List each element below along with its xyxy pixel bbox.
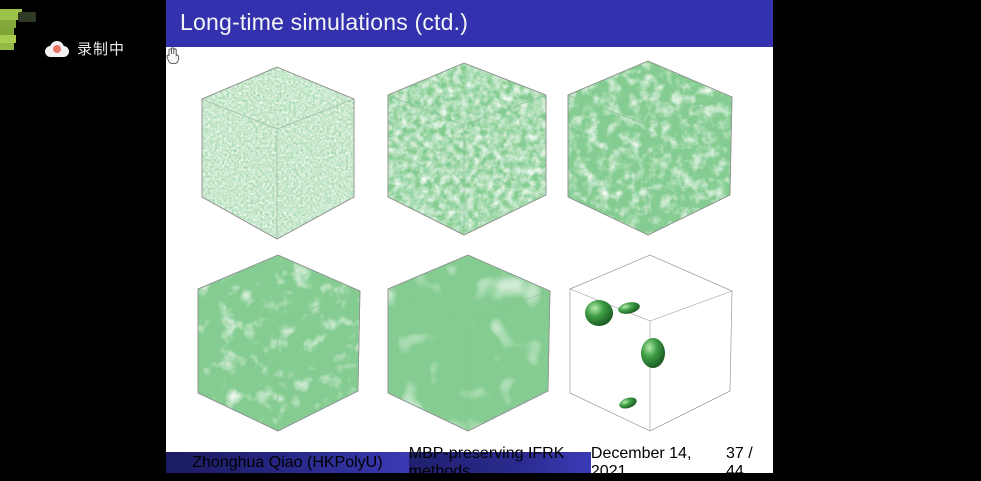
footer-topic: MBP-preserving IFRK methods: [409, 452, 591, 473]
slide-title-bar: Long-time simulations (ctd.): [166, 0, 773, 47]
footer-page-number: 37 / 44: [726, 445, 773, 481]
slide-footer: Zhonghua Qiao (HKPolyU) MBP-preserving I…: [166, 452, 773, 473]
footer-author: Zhonghua Qiao (HKPolyU): [166, 452, 409, 473]
isosurface-cube-5: [374, 245, 564, 437]
isosurface-cube-1: [182, 57, 372, 249]
figure-panel-5: [374, 245, 564, 437]
recording-indicator: 录制中: [45, 38, 125, 59]
isosurface-cube-6: [556, 245, 746, 437]
figure-panel-1: [182, 57, 372, 249]
isosurface-cube-2: [374, 55, 564, 247]
figure-panel-2: [374, 55, 564, 247]
figure-panel-6: [556, 245, 746, 437]
presentation-slide[interactable]: Long-time simulations (ctd.): [166, 0, 773, 473]
isosurface-cube-3: [556, 53, 746, 245]
participant-name: 乔中华: [0, 56, 48, 73]
footer-date-page: December 14, 2021 37 / 44: [591, 452, 773, 473]
slide-title: Long-time simulations (ctd.): [180, 9, 468, 36]
recording-label: 录制中: [77, 38, 125, 59]
isosurface-cube-4: [184, 245, 374, 437]
cloud-record-icon: [45, 41, 69, 57]
screen-root: 录制中 Long-time simulations (ctd.): [0, 0, 981, 473]
figure-panel-4: [184, 245, 374, 437]
footer-date: December 14, 2021: [591, 445, 726, 481]
slide-figure-area: [166, 47, 773, 452]
figure-panel-3: [556, 53, 746, 245]
